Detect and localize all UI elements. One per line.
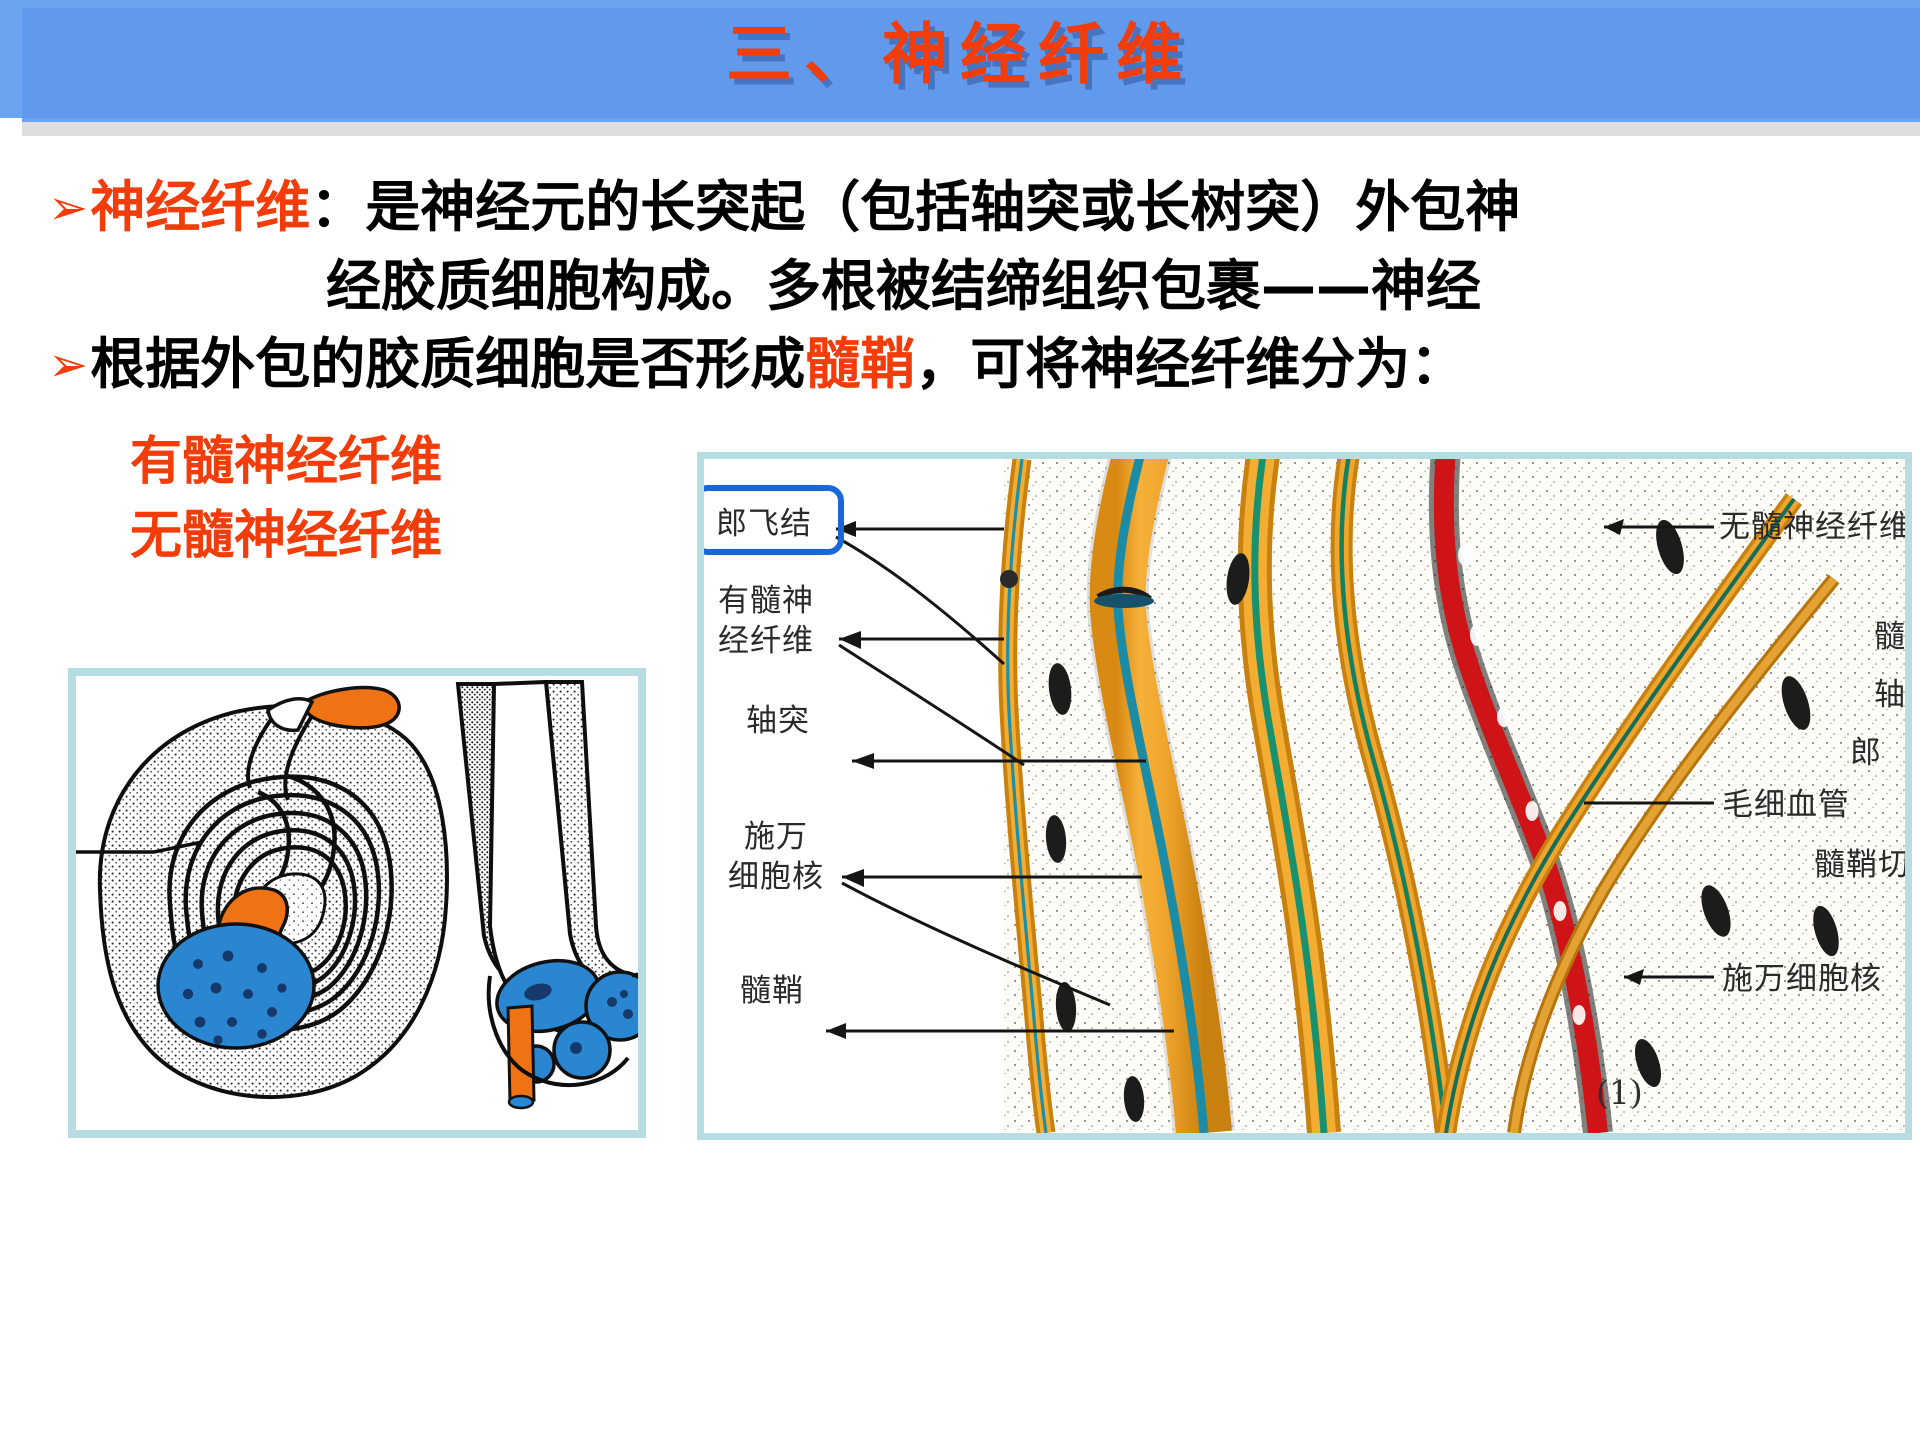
term-myelin-sheath: 髓鞘 [805,332,915,396]
label-node-cut: 郎 [1850,733,1882,773]
term-nerve-fiber: 神经纤维 [90,175,310,239]
label-axon: 轴突 [746,701,810,741]
label-axon-cut: 轴 [1874,675,1906,715]
label-capillary: 毛细血管 [1722,785,1850,825]
label-myelin-cut: 髓 [1874,617,1906,657]
sub-item-myelinated: 有髓神经纤维 [130,425,442,499]
figure-myelinated-fiber-cross-section [68,668,646,1138]
slide-body: ➢神经纤维：是神经元的长突起（包括轴突或长树突）外包神 经胶质细胞构成。多根被结… [48,168,1908,404]
label-schwann-cell-nucleus-right: 施万细胞核 [1722,959,1882,999]
paragraph1-line1-rest: ：是神经元的长突起（包括轴突或长树突）外包神 [310,175,1520,239]
paragraph1-line2: 经胶质细胞构成。多根被结缔组织包裹——神经 [48,247,1908,325]
page-title: 三、神经纤维 [0,14,1920,96]
label-myelin-sheath-left: 髓鞘 [740,971,804,1011]
paragraph2-post: ，可将神经纤维分为： [915,332,1465,396]
title-banner-shadow [0,122,1920,136]
label-myelin-incisure: 髓鞘切 [1814,845,1910,885]
label-myelinated-nerve-fiber: 有髓神 经纤维 [718,581,814,661]
bullet-marker-2: ➢ [48,326,88,404]
label-node-of-ranvier: 郎飞结 [716,504,812,544]
figure-caption: (1) [1596,1073,1643,1112]
figure-left-drawing [76,676,638,1130]
bullet-marker-1: ➢ [48,169,88,247]
figure-nerve-fiber-micrograph: 郎飞结 有髓神 经纤维 轴突 施万 细胞核 髓鞘 无髓神经纤维 髓 轴 郎 毛细… [697,452,1912,1140]
sub-item-list: 有髓神经纤维 无髓神经纤维 [130,425,442,573]
label-schwann-cell-nucleus-left: 施万 细胞核 [718,817,834,897]
bullet-line-2: ➢根据外包的胶质细胞是否形成髓鞘，可将神经纤维分为： [48,325,1908,404]
paragraph2-pre: 根据外包的胶质细胞是否形成 [90,332,805,396]
schwann-cell-wrap [76,688,454,1097]
unmyelinated-fiber-bundle [458,682,638,1108]
sub-item-unmyelinated: 无髓神经纤维 [130,499,442,573]
title-banner-shadow-left [0,118,22,136]
label-unmyelinated-nerve-fiber: 无髓神经纤维 [1719,507,1911,547]
bullet-line-1: ➢神经纤维：是神经元的长突起（包括轴突或长树突）外包神 [48,168,1908,247]
